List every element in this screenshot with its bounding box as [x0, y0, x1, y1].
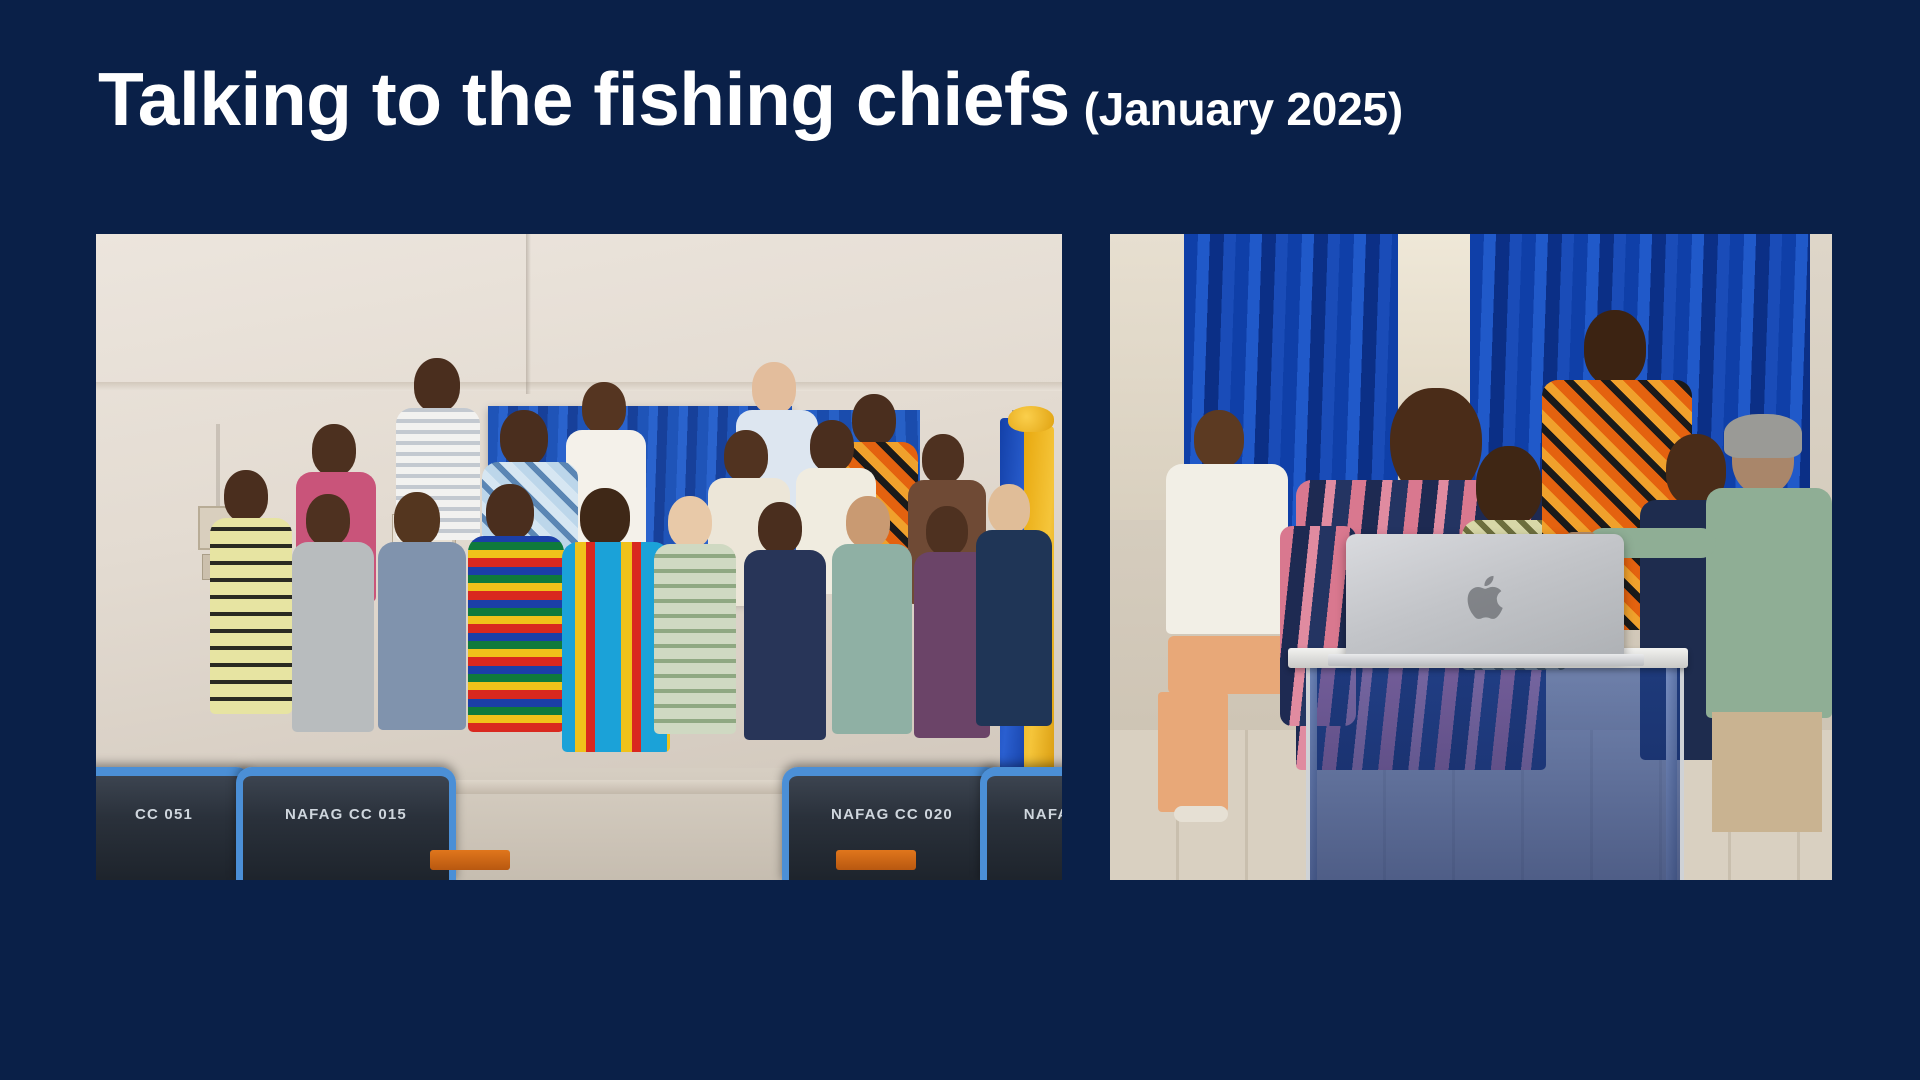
chair-label: CC 051	[135, 806, 193, 823]
wall-corner	[526, 234, 531, 394]
chair-seat-left	[430, 850, 510, 870]
wall-seam	[96, 382, 1062, 391]
macbook-laptop[interactable]	[1346, 534, 1624, 658]
chair-label: NAFAG CC 020	[831, 806, 953, 823]
chair-label: NAFAG	[1024, 806, 1062, 823]
chief-at-laptop-photo	[1110, 234, 1832, 880]
chair-seat-right	[836, 850, 916, 870]
slide-title-main: Talking to the fishing chiefs	[98, 57, 1070, 141]
slide-title-date: (January 2025)	[1084, 83, 1403, 135]
stadium-chair-015: NAFAG CC 015	[236, 767, 456, 880]
stadium-chair-nafag: NAFAG	[980, 767, 1062, 880]
podium-glass-panel	[1306, 666, 1684, 880]
slide-title: Talking to the fishing chiefs(January 20…	[98, 62, 1403, 137]
macbook-base	[1328, 654, 1644, 666]
apple-logo-icon	[1465, 575, 1505, 621]
presentation-slide: Talking to the fishing chiefs(January 20…	[0, 0, 1920, 1080]
flag-knot	[1008, 406, 1054, 432]
stadium-chair-051: CC 051	[96, 767, 252, 880]
chair-label: NAFAG CC 015	[285, 806, 407, 823]
fishing-chiefs-group-photo: CC 051 NAFAG CC 015 NAFAG CC 020 NAFAG	[96, 234, 1062, 880]
